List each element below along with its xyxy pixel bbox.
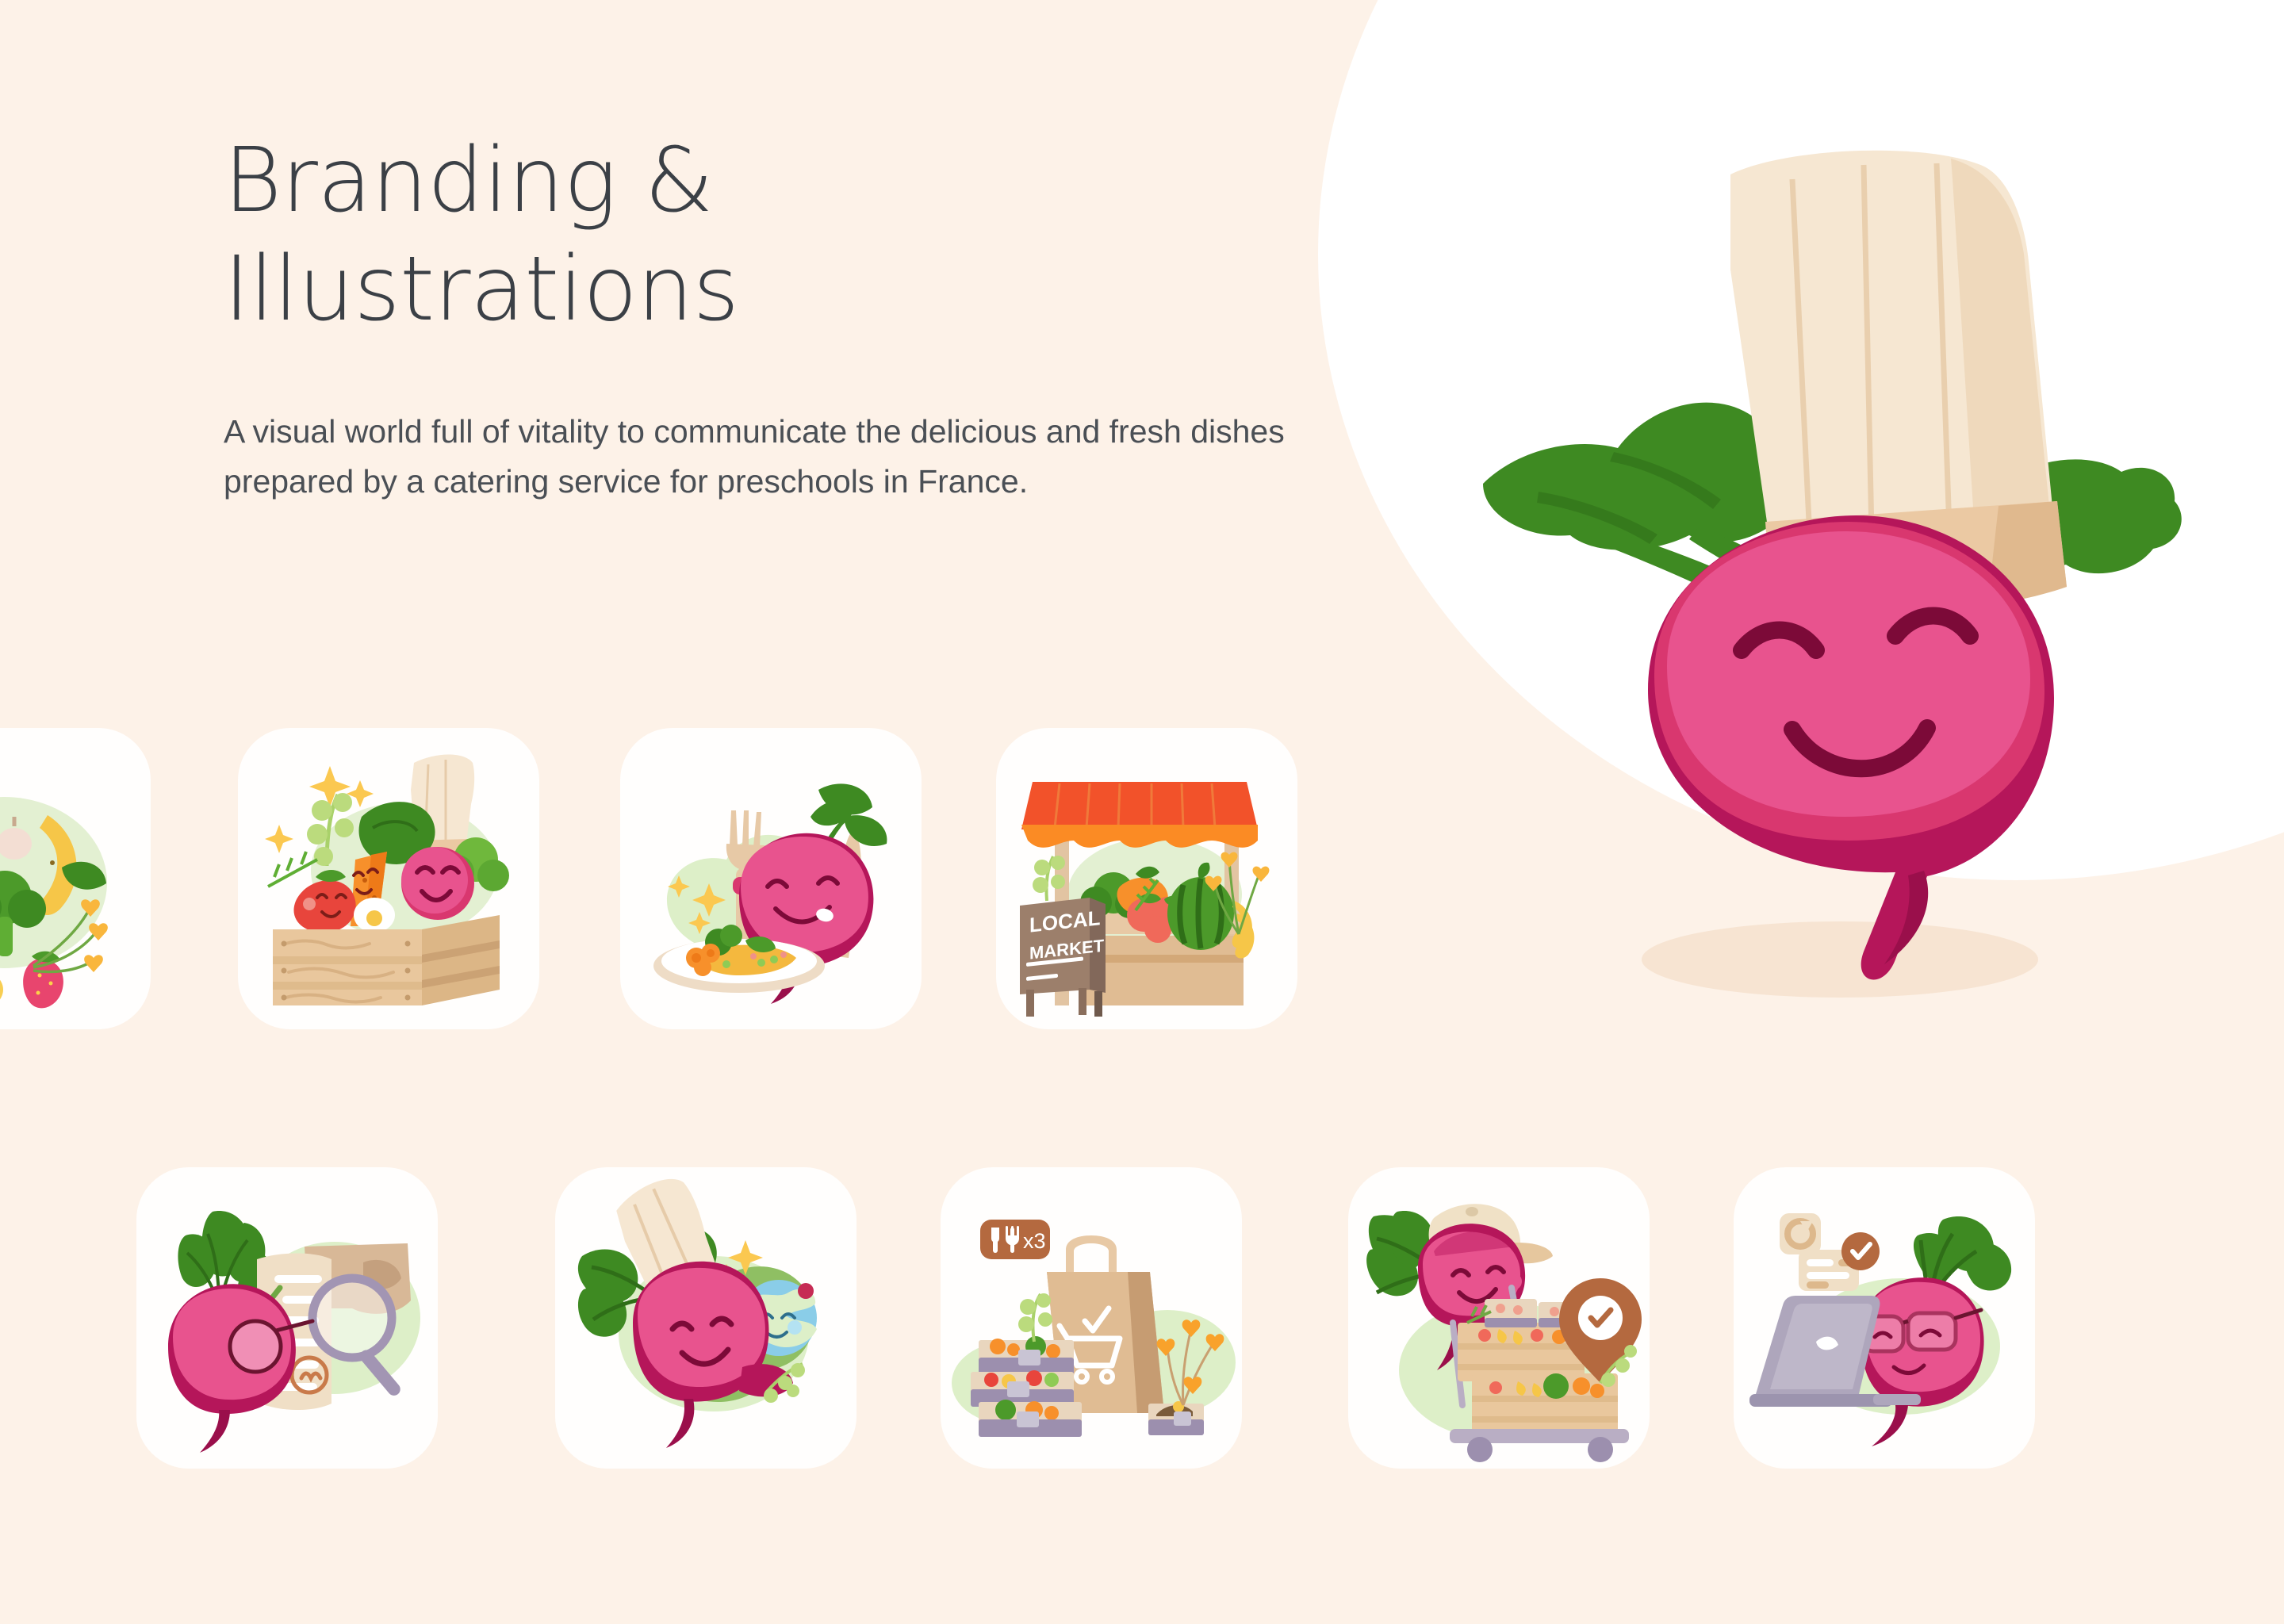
delivery-cart-illustration (1348, 1167, 1650, 1469)
card-radish-globe[interactable] (555, 1167, 856, 1469)
card-radish-meal[interactable] (620, 728, 922, 1029)
poster-canvas: Branding & Illustrations A visual world … (0, 0, 2284, 1624)
produce-assortment-illustration (0, 728, 151, 1029)
card-meal-delivery-bag[interactable]: x3 (941, 1167, 1242, 1469)
page-title: Branding & Illustrations (224, 127, 1302, 343)
card-local-market[interactable]: LOCAL MARKET (996, 728, 1297, 1029)
menu-review-illustration (136, 1167, 438, 1469)
online-order-illustration (1734, 1167, 2035, 1469)
local-market-illustration: LOCAL MARKET (996, 728, 1297, 1029)
radish-meal-illustration (620, 728, 922, 1029)
card-delivery-cart[interactable] (1348, 1167, 1650, 1469)
card-online-order[interactable] (1734, 1167, 2035, 1469)
radish-globe-illustration (555, 1167, 856, 1469)
card-menu-review[interactable] (136, 1167, 438, 1469)
card-vegetable-crate[interactable] (238, 728, 539, 1029)
meal-delivery-illustration: x3 (941, 1167, 1242, 1469)
headline-block: Branding & Illustrations A visual world … (224, 127, 1302, 506)
card-produce-assortment[interactable] (0, 728, 151, 1029)
radish-chef-mascot (1451, 143, 2213, 1031)
vegetable-crate-illustration (238, 728, 539, 1029)
meal-count-label: x3 (1023, 1229, 1046, 1253)
page-description: A visual world full of vitality to commu… (224, 407, 1302, 506)
meal-count-badge: x3 (980, 1220, 1050, 1259)
